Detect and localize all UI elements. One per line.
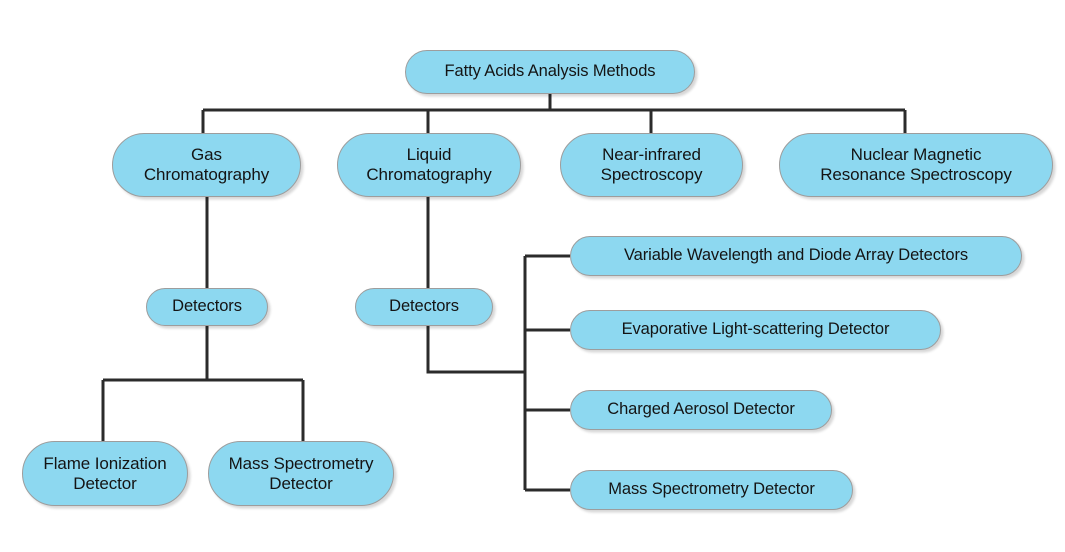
node-label: Fatty Acids Analysis Methods (406, 62, 694, 81)
node-flame-ionization-detector[interactable]: Flame Ionization Detector (22, 441, 188, 506)
node-gc-mass-spectrometry-detector[interactable]: Mass Spectrometry Detector (208, 441, 394, 506)
node-label: Near-infrared Spectroscopy (561, 145, 742, 185)
node-label: Detectors (356, 297, 492, 316)
node-fatty-acids-analysis-methods[interactable]: Fatty Acids Analysis Methods (405, 50, 695, 94)
node-label: Mass Spectrometry Detector (571, 480, 852, 499)
node-charged-aerosol-detector[interactable]: Charged Aerosol Detector (570, 390, 832, 430)
node-variable-wavelength-and-diode-array-detectors[interactable]: Variable Wavelength and Diode Array Dete… (570, 236, 1022, 276)
node-gas-chromatography[interactable]: Gas Chromatography (112, 133, 301, 197)
node-label: Gas Chromatography (113, 145, 300, 185)
node-label: Flame Ionization Detector (23, 454, 187, 494)
edge-lc-detectors-to-trunk (428, 326, 525, 372)
node-gas-chromatography-detectors[interactable]: Detectors (146, 288, 268, 326)
node-evaporative-light-scattering-detector[interactable]: Evaporative Light-scattering Detector (570, 310, 941, 350)
node-liquid-chromatography[interactable]: Liquid Chromatography (337, 133, 521, 197)
node-label: Detectors (147, 297, 267, 316)
node-label: Charged Aerosol Detector (571, 400, 831, 419)
node-label: Mass Spectrometry Detector (209, 454, 393, 494)
node-label: Nuclear Magnetic Resonance Spectroscopy (780, 145, 1052, 185)
node-label: Evaporative Light-scattering Detector (571, 320, 940, 339)
node-label: Variable Wavelength and Diode Array Dete… (571, 246, 1021, 265)
node-liquid-chromatography-detectors[interactable]: Detectors (355, 288, 493, 326)
node-near-infrared-spectroscopy[interactable]: Near-infrared Spectroscopy (560, 133, 743, 197)
node-label: Liquid Chromatography (338, 145, 520, 185)
fatty-acids-analysis-methods-diagram: Fatty Acids Analysis Methods Gas Chromat… (0, 0, 1065, 552)
node-lc-mass-spectrometry-detector[interactable]: Mass Spectrometry Detector (570, 470, 853, 510)
node-nuclear-magnetic-resonance-spectroscopy[interactable]: Nuclear Magnetic Resonance Spectroscopy (779, 133, 1053, 197)
